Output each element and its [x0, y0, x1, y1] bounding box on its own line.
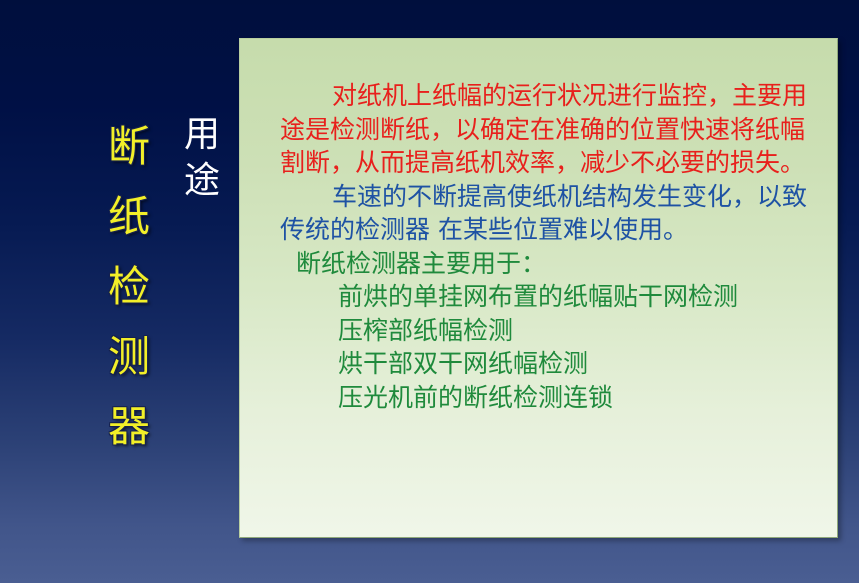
content-panel: 对纸机上纸幅的运行状况进行监控，主要用途是检测断纸，以确定在准确的位置快速将纸幅…: [239, 38, 838, 538]
green-item-3: 烘干部双干网纸幅检测: [280, 347, 829, 381]
paragraph-red: 对纸机上纸幅的运行状况进行监控，主要用途是检测断纸，以确定在准确的位置快速将纸幅…: [280, 79, 829, 180]
purpose-label: 用 途: [176, 112, 228, 204]
green-item-2: 压榨部纸幅检测: [280, 314, 829, 348]
vertical-title-char-3: 检: [108, 252, 150, 322]
green-item-4: 压光机前的断纸检测连锁: [280, 381, 829, 415]
vertical-title-char-4: 测: [108, 322, 150, 392]
green-item-list: 前烘的单挂网布置的纸幅贴干网检测 压榨部纸幅检测 烘干部双干网纸幅检测 压光机前…: [280, 280, 829, 414]
green-item-1: 前烘的单挂网布置的纸幅贴干网检测: [280, 280, 829, 314]
purpose-label-char-1: 用: [184, 112, 220, 158]
purpose-label-char-2: 途: [184, 158, 220, 204]
vertical-title: 断 纸 检 测 器: [100, 112, 158, 462]
presentation-slide: 断 纸 检 测 器 用 途 对纸机上纸幅的运行状况进行监控，主要用途是检测断纸，…: [0, 0, 859, 583]
vertical-title-char-1: 断: [108, 112, 150, 182]
paragraph-blue: 车速的不断提高使纸机结构发生变化，以致传统的检测器 在某些位置难以使用。: [280, 180, 829, 247]
green-heading: 断纸检测器主要用于：: [280, 247, 829, 281]
vertical-title-char-2: 纸: [108, 182, 150, 252]
vertical-title-char-5: 器: [108, 392, 150, 462]
